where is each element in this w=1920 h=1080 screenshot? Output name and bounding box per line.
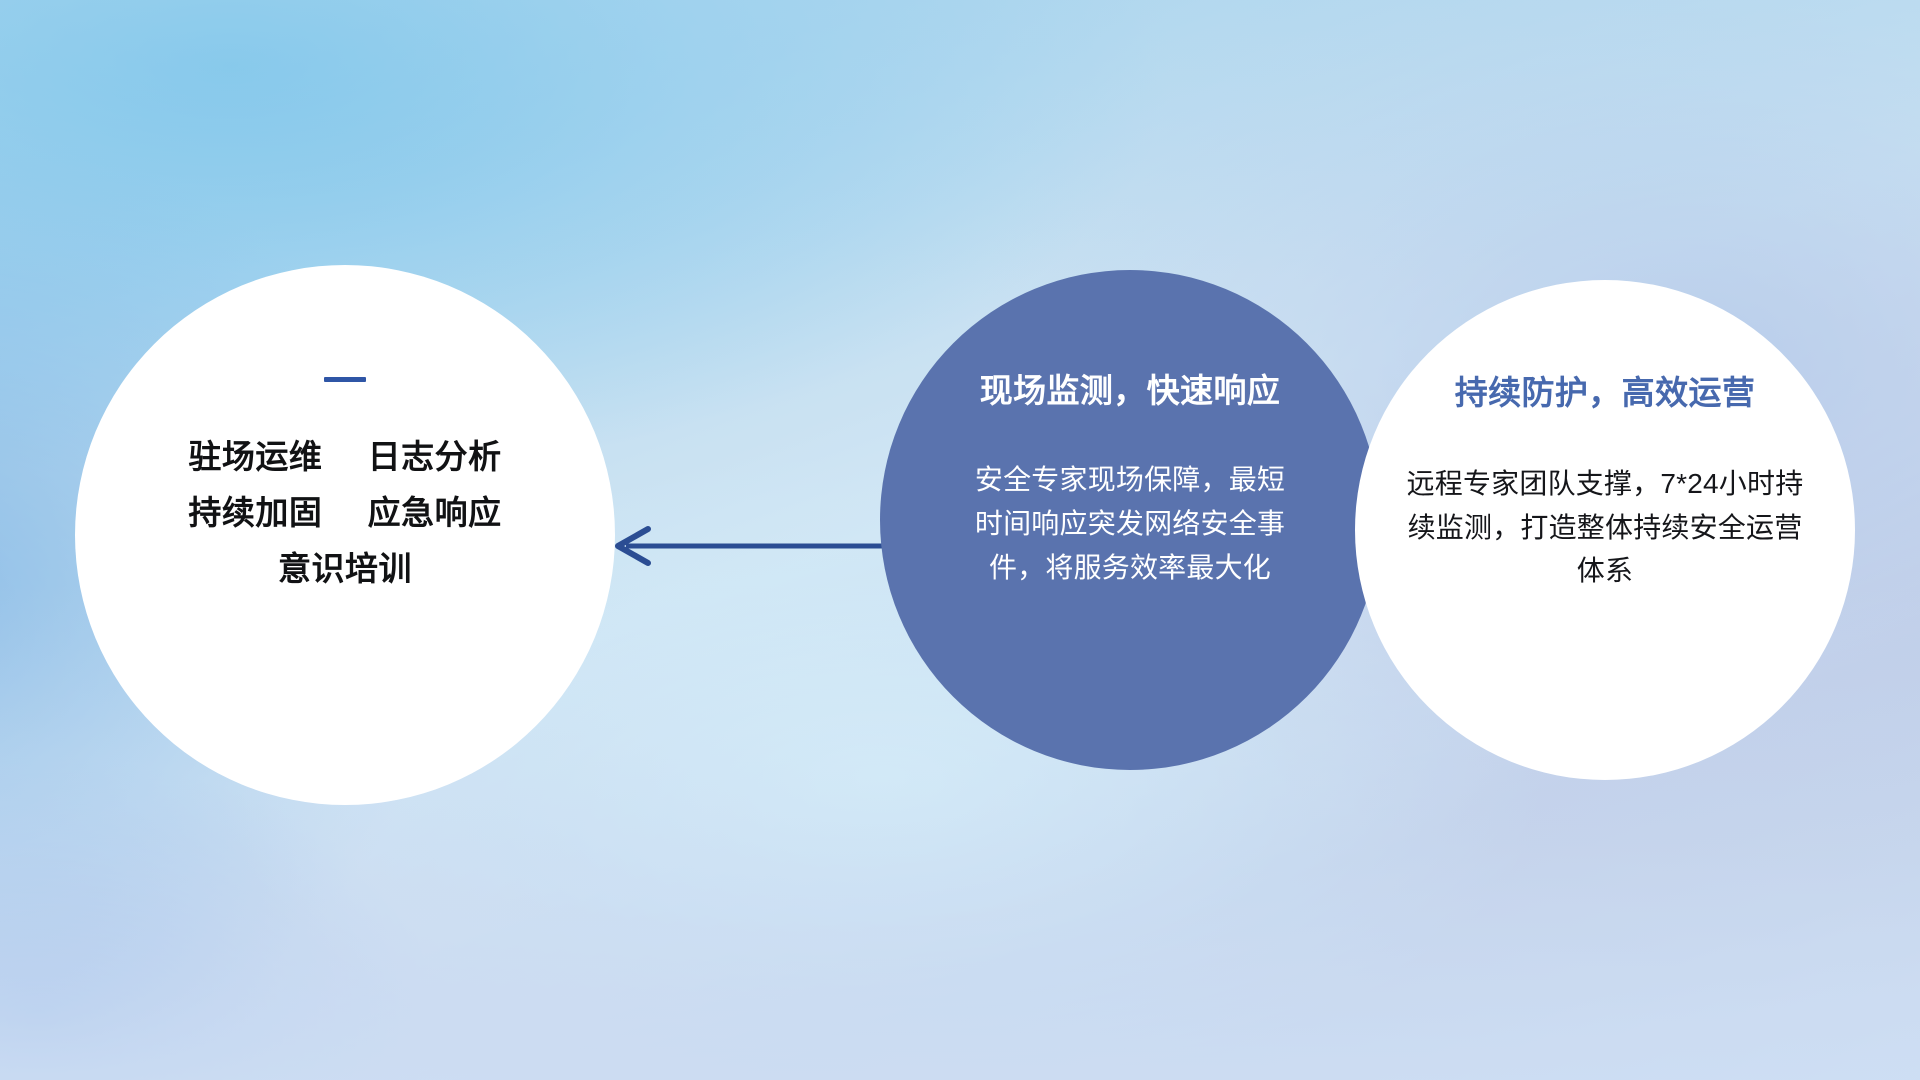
node-description: 远程专家团队支撑，7*24小时持续监测，打造整体持续安全运营体系 [1405, 462, 1805, 593]
diagram-node-capabilities[interactable]: 驻场运维 日志分析 持续加固 应急响应 意识培训 [75, 265, 615, 805]
capability-row: 意识培训 [278, 546, 412, 593]
node-title: 现场监测，快速响应 [980, 364, 1281, 412]
diagram-node-continuous-protection[interactable]: 持续防护，高效运营 远程专家团队支撑，7*24小时持续监测，打造整体持续安全运营… [1355, 280, 1855, 780]
capability-tag: 日志分析 [368, 438, 502, 475]
diagram-node-onsite-monitoring[interactable]: 现场监测，快速响应 安全专家现场保障，最短时间响应突发网络安全事件，将服务效率最… [880, 270, 1380, 770]
capability-tag: 应急响应 [368, 494, 502, 531]
capability-tag: 意识培训 [278, 550, 412, 587]
capabilities-content: 驻场运维 日志分析 持续加固 应急响应 意识培训 [75, 265, 615, 805]
slide-canvas: 驻场运维 日志分析 持续加固 应急响应 意识培训 现 [0, 0, 1920, 1080]
capability-tag: 持续加固 [188, 494, 322, 531]
capability-row: 持续加固 应急响应 [188, 490, 501, 537]
capability-tag-list: 驻场运维 日志分析 持续加固 应急响应 意识培训 [188, 434, 501, 593]
node-title: 持续防护，高效运营 [1455, 366, 1756, 414]
continuous-protection-content: 持续防护，高效运营 远程专家团队支撑，7*24小时持续监测，打造整体持续安全运营… [1355, 280, 1855, 780]
capability-row: 驻场运维 日志分析 [188, 434, 501, 481]
divider-dash [324, 377, 366, 382]
onsite-monitoring-content: 现场监测，快速响应 安全专家现场保障，最短时间响应突发网络安全事件，将服务效率最… [880, 270, 1380, 770]
connector-arrow [600, 516, 900, 576]
node-description: 安全专家现场保障，最短时间响应突发网络安全事件，将服务效率最大化 [965, 458, 1295, 591]
arrow-left-icon [600, 516, 900, 576]
capability-tag: 驻场运维 [188, 438, 322, 475]
